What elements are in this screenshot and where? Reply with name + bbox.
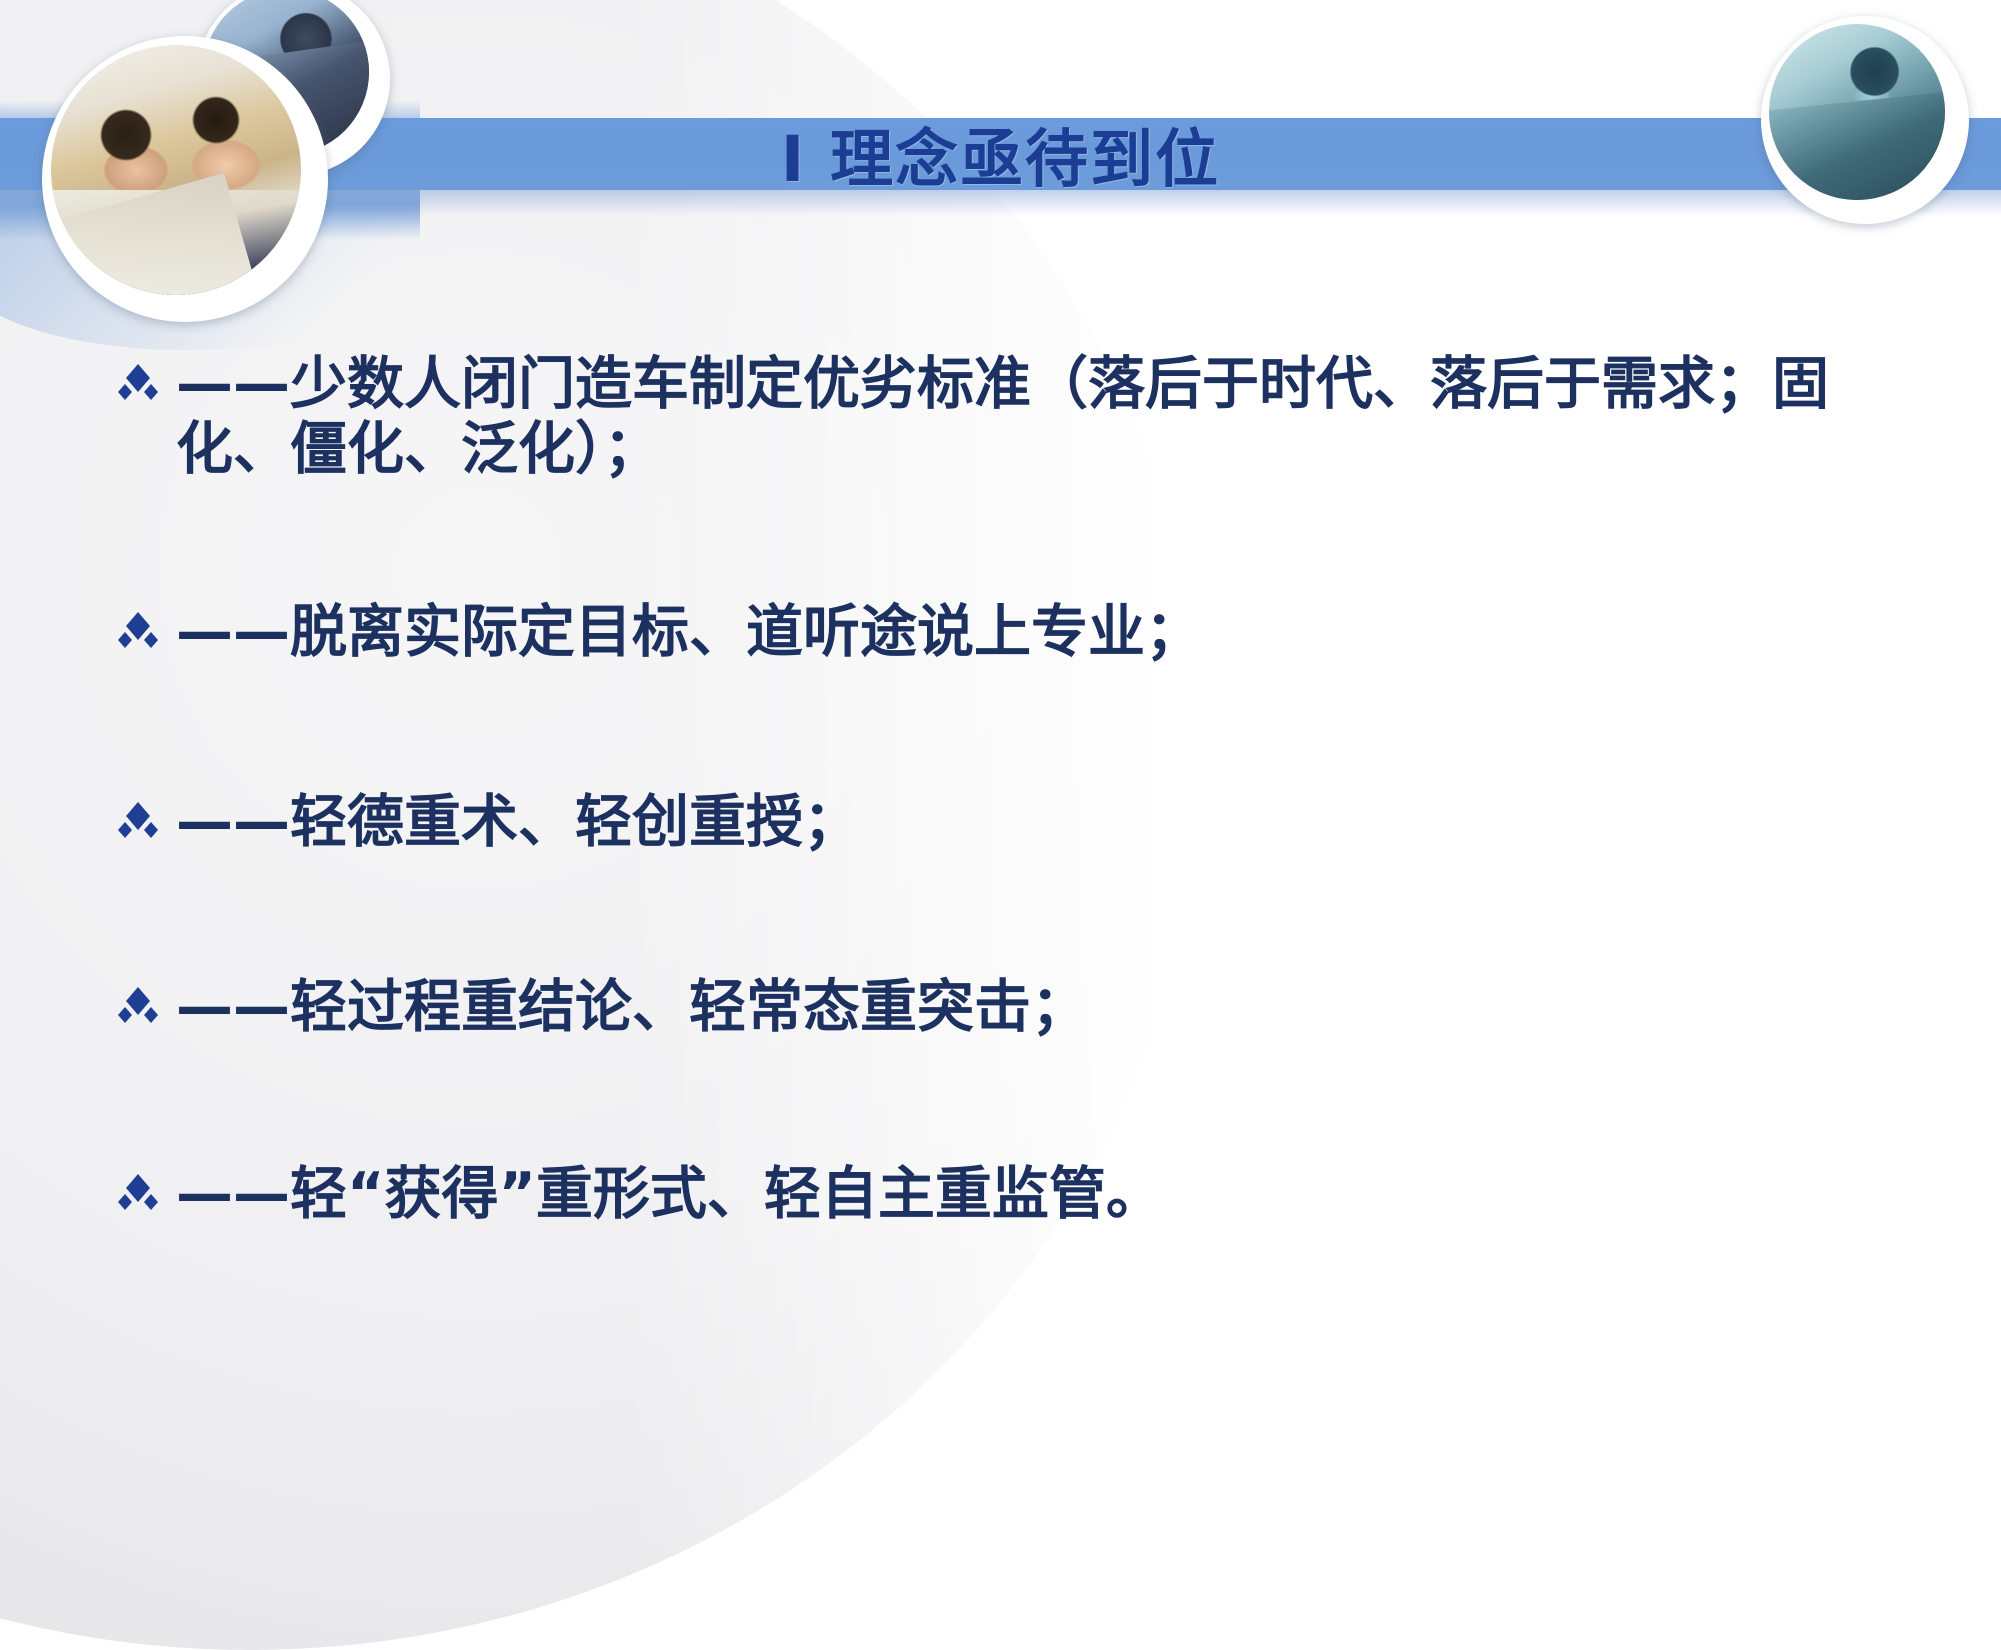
diamond-bullet-icon bbox=[112, 606, 176, 658]
list-item-label: ——轻“获得”重形式、轻自主重监管。 bbox=[176, 1162, 1163, 1227]
slide-body: ——少数人闭门造车制定优劣标准（落后于时代、落后于需求；固化、僵化、泛化）； —… bbox=[0, 0, 2001, 1501]
diamond-bullet-icon bbox=[112, 358, 176, 410]
list-item-label: ——脱离实际定目标、道听途说上专业； bbox=[176, 600, 1202, 665]
list-item: ——轻“获得”重形式、轻自主重监管。 bbox=[112, 1162, 1812, 1227]
list-item: ——轻过程重结论、轻常态重突击； bbox=[112, 975, 1812, 1040]
list-item: ——少数人闭门造车制定优劣标准（落后于时代、落后于需求；固化、僵化、泛化）； bbox=[112, 352, 1942, 482]
list-item-label: ——少数人闭门造车制定优劣标准（落后于时代、落后于需求；固化、僵化、泛化）； bbox=[176, 352, 1942, 482]
list-item: ——脱离实际定目标、道听途说上专业； bbox=[112, 600, 1812, 665]
diamond-bullet-icon bbox=[112, 981, 176, 1033]
diamond-bullet-icon bbox=[112, 1168, 176, 1220]
list-item-label: ——轻德重术、轻创重授； bbox=[176, 790, 860, 855]
list-item-label: ——轻过程重结论、轻常态重突击； bbox=[176, 975, 1088, 1040]
diamond-bullet-icon bbox=[112, 796, 176, 848]
list-item: ——轻德重术、轻创重授； bbox=[112, 790, 1812, 855]
